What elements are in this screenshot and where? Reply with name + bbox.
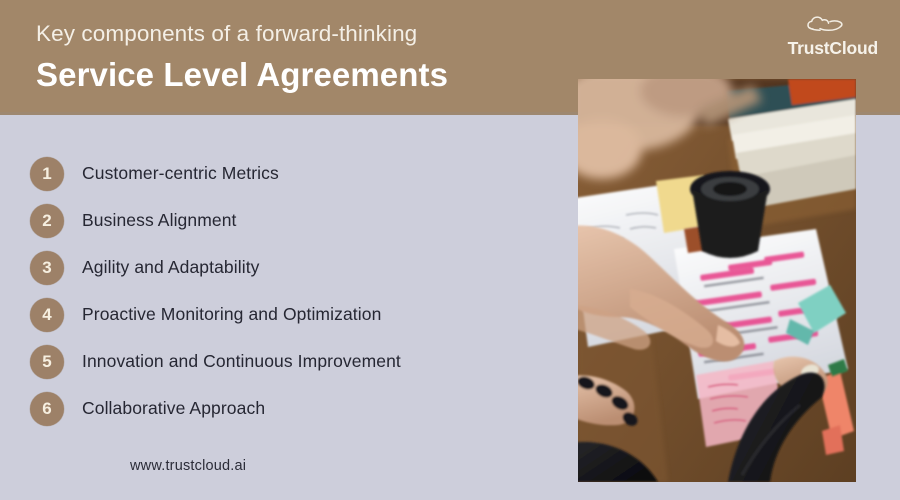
header-kicker: Key components of a forward-thinking bbox=[36, 20, 596, 48]
components-list: 1 Customer-centric Metrics 2 Business Al… bbox=[30, 150, 550, 432]
list-item[interactable]: 1 Customer-centric Metrics bbox=[30, 150, 550, 197]
list-item-label: Business Alignment bbox=[82, 210, 237, 231]
list-item[interactable]: 4 Proactive Monitoring and Optimization bbox=[30, 291, 550, 338]
logo-wordmark: TrustCloud bbox=[788, 38, 878, 58]
cloud-outline-icon bbox=[788, 14, 878, 39]
list-item[interactable]: 3 Agility and Adaptability bbox=[30, 244, 550, 291]
list-item[interactable]: 6 Collaborative Approach bbox=[30, 385, 550, 432]
list-number-badge: 2 bbox=[30, 204, 64, 238]
list-item-label: Innovation and Continuous Improvement bbox=[82, 351, 401, 372]
header-text-block: Key components of a forward-thinking Ser… bbox=[36, 20, 596, 95]
list-number-badge: 4 bbox=[30, 298, 64, 332]
list-item-label: Agility and Adaptability bbox=[82, 257, 260, 278]
desk-photo bbox=[578, 79, 856, 482]
list-item[interactable]: 2 Business Alignment bbox=[30, 197, 550, 244]
list-number-badge: 6 bbox=[30, 392, 64, 426]
list-number-badge: 5 bbox=[30, 345, 64, 379]
photo-illustration bbox=[578, 79, 856, 482]
trustcloud-logo[interactable]: TrustCloud bbox=[788, 14, 878, 59]
list-number-badge: 1 bbox=[30, 157, 64, 191]
list-item-label: Proactive Monitoring and Optimization bbox=[82, 304, 381, 325]
list-number-badge: 3 bbox=[30, 251, 64, 285]
list-item[interactable]: 5 Innovation and Continuous Improvement bbox=[30, 338, 550, 385]
website-url[interactable]: www.trustcloud.ai bbox=[130, 458, 246, 474]
list-item-label: Customer-centric Metrics bbox=[82, 163, 279, 184]
page-title: Service Level Agreements bbox=[36, 54, 596, 95]
slide-canvas: Key components of a forward-thinking Ser… bbox=[0, 0, 900, 500]
list-item-label: Collaborative Approach bbox=[82, 398, 265, 419]
